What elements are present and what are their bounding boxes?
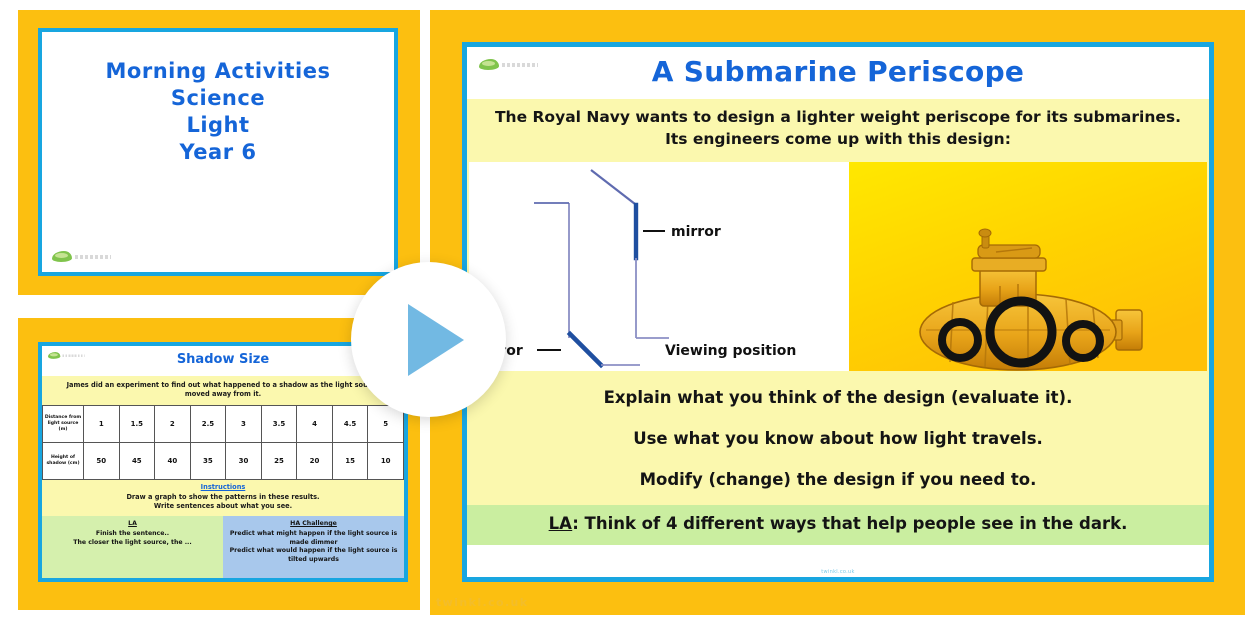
cell-distance-1: 1.5 [119,406,155,443]
periscope-intro-line-1: The Royal Navy wants to design a lighter… [495,108,1181,126]
periscope-la-prefix: LA [549,514,573,533]
task-modify: Modify (change) the design if you need t… [477,470,1199,489]
periscope-diagram: mirror mirror Viewing position [469,162,849,371]
cell-height-5: 25 [261,443,297,480]
twinkl-blob-icon [52,251,72,262]
twinkl-wordmark-icon [75,255,111,259]
ha-line-2: Predict what would happen if the light s… [230,547,398,562]
title-line-4: Year 6 [42,139,394,166]
title-slide[interactable]: Morning Activities Science Light Year 6 [38,28,398,276]
periscope-slide-panel: A Submarine Periscope The Royal Navy wan… [430,10,1245,615]
cell-height-7: 15 [332,443,368,480]
periscope-slide-header: A Submarine Periscope [467,47,1209,99]
instructions-line-2: Write sentences about what you see. [154,502,292,510]
watermark-text: twinkl.co.uk [436,596,529,609]
cell-distance-6: 4 [297,406,333,443]
cell-height-4: 30 [226,443,262,480]
periscope-tasks: Explain what you think of the design (ev… [467,374,1209,505]
shadow-results-table: Distance from light source (m) 1 1.5 2 2… [42,405,404,480]
task-evaluate: Explain what you think of the design (ev… [477,388,1199,407]
la-line-1: Finish the sentence.. [96,530,169,537]
cell-height-6: 20 [297,443,333,480]
cell-height-3: 35 [190,443,226,480]
shadow-size-slide[interactable]: Shadow Size James did an experiment to f… [38,342,408,582]
shadow-instructions: Instructions Draw a graph to show the pa… [42,480,404,516]
cell-distance-0: 1 [84,406,120,443]
periscope-intro: The Royal Navy wants to design a lighter… [467,99,1209,159]
cell-height-0: 50 [84,443,120,480]
cell-height-1: 45 [119,443,155,480]
periscope-la-block: LA: Think of 4 different ways that help … [467,505,1209,545]
screenshot-root: Morning Activities Science Light Year 6 … [0,0,1260,630]
mirror-top-label: mirror [671,224,721,240]
ha-line-1: Predict what might happen if the light s… [230,530,397,545]
periscope-intro-line-2: Its engineers come up with this design: [665,130,1011,148]
table-row: Distance from light source (m) 1 1.5 2 2… [43,406,404,443]
play-triangle-icon [408,304,464,376]
row-label-distance: Distance from light source (m) [43,406,84,443]
title-slide-panel: Morning Activities Science Light Year 6 [18,10,420,295]
instructions-heading: Instructions [52,483,394,492]
periscope-la-text: : Think of 4 different ways that help pe… [572,514,1127,533]
periscope-diagram-svg: mirror mirror Viewing position [469,162,849,371]
shadow-slide-title: Shadow Size [42,352,404,367]
submarine-illustration-icon [849,162,1207,371]
cell-distance-5: 3.5 [261,406,297,443]
title-slide-text: Morning Activities Science Light Year 6 [42,58,394,166]
row-label-height: Height of shadow (cm) [43,443,84,480]
shadow-slide-header: Shadow Size [42,346,404,376]
title-line-3: Light [42,112,394,139]
periscope-figure-row: mirror mirror Viewing position [467,159,1209,374]
periscope-slide[interactable]: A Submarine Periscope The Royal Navy wan… [462,42,1214,582]
ha-heading: HA Challenge [229,520,398,528]
viewing-position-label: Viewing position [665,343,796,359]
cell-height-2: 40 [155,443,191,480]
slide-footnote: twinkl.co.uk [467,569,1209,575]
play-button[interactable] [351,262,506,417]
cell-distance-2: 2 [155,406,191,443]
table-row: Height of shadow (cm) 50 45 40 35 30 25 … [43,443,404,480]
shadow-intro-text: James did an experiment to find out what… [42,376,404,405]
task-light-travels: Use what you know about how light travel… [477,429,1199,448]
title-line-2: Science [42,85,394,112]
periscope-slide-title: A Submarine Periscope [467,55,1209,88]
la-line-2: The closer the light source, the ... [73,539,192,546]
cell-distance-3: 2.5 [190,406,226,443]
periscope-top-slant [591,170,635,204]
shadow-differentiation-row: LA Finish the sentence.. The closer the … [42,516,404,578]
cell-distance-7: 4.5 [332,406,368,443]
submarine-image [849,162,1207,371]
mirror-bottom-icon [570,334,601,365]
ha-block: HA Challenge Predict what might happen i… [223,516,404,578]
instructions-line-1: Draw a graph to show the patterns in the… [126,493,319,501]
la-heading: LA [48,520,217,528]
twinkl-logo-icon [52,251,111,262]
cell-distance-4: 3 [226,406,262,443]
la-block: LA Finish the sentence.. The closer the … [42,516,223,578]
title-line-1: Morning Activities [42,58,394,85]
cell-height-8: 10 [368,443,404,480]
